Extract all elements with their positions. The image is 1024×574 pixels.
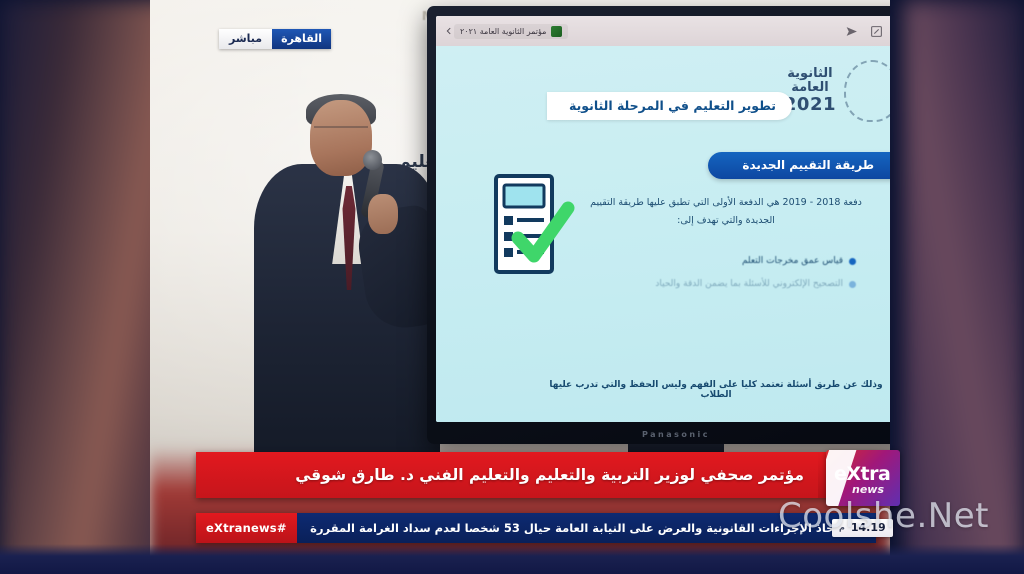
checklist-document-icon (484, 172, 580, 282)
live-status-label: مباشر (219, 29, 272, 49)
bottom-strip (0, 544, 1024, 574)
slide-logo: الثانوية العامة 2021 (784, 60, 890, 122)
bullet-dot-icon (849, 281, 856, 288)
slide-logo-line1: الثانوية (784, 67, 836, 81)
slide-footnote: وذلك عن طريق أسئلة تعتمد كليا على الفهم … (546, 380, 886, 400)
clock-meridiem: م (839, 523, 845, 532)
presentation-display: مؤتمر الثانوية العامة ٢٠٢١ (427, 6, 890, 444)
ticker-text: يه: اتخاذ الإجراءات القانونية والعرض على… (297, 513, 876, 543)
clock-time: 14.19 (851, 521, 886, 534)
slide-paragraph: دفعة 2018 - 2019 هي الدفعة الأولى التي ت… (576, 194, 876, 229)
presentation-slide: الثانوية العامة 2021 تطوير التعليم في ال… (436, 46, 890, 422)
speaker-hand (368, 194, 398, 234)
back-arrow-icon[interactable] (444, 26, 454, 36)
right-blur-band (904, 0, 1024, 574)
bullet-text: قياس عمق مخرجات التعلم (742, 256, 843, 266)
channel-logo: eXtra news (826, 450, 900, 506)
slide-subtitle: طريقة التقييم الجديدة (708, 152, 890, 179)
broadcast-screenshot: MINISTRY OF EDUCATION AND TECHNICAL EDUC… (0, 0, 1024, 574)
wreath-emblem-icon (844, 60, 890, 122)
bullet-text: التصحيح الإلكتروني للأسئلة بما يضمن الدق… (655, 279, 843, 289)
browser-tab-title: مؤتمر الثانوية العامة ٢٠٢١ (460, 27, 546, 36)
send-arrow-icon[interactable] (845, 25, 858, 38)
headline-text: مؤتمر صحفي لوزير التربية والتعليم والتعل… (196, 452, 818, 498)
slide-title: تطوير التعليم في المرحلة الثانوية (547, 92, 792, 120)
live-city-label: القاهرة (272, 29, 331, 49)
microphone-head-icon (363, 150, 382, 170)
lower-third-banner: عاجل مؤتمر صحفي لوزير التربية والتعليم و… (196, 452, 876, 498)
channel-logo-primary: eXtra (834, 463, 890, 485)
browser-toolbar: مؤتمر الثانوية العامة ٢٠٢١ (436, 16, 890, 46)
bullet-dot-icon (849, 258, 856, 265)
display-brand-label: Panasonic (427, 430, 890, 439)
live-banner: القاهرة مباشر (219, 29, 331, 49)
browser-tab[interactable]: مؤتمر الثانوية العامة ٢٠٢١ (454, 24, 568, 39)
channel-logo-secondary: news (852, 483, 884, 496)
speaker-glasses-icon (314, 126, 368, 139)
browser-action-icons (845, 25, 890, 38)
tab-favicon-icon (551, 26, 562, 37)
slide-bullet-list: قياس عمق مخرجات التعلم التصحيح الإلكترون… (586, 256, 856, 302)
display-screen: مؤتمر الثانوية العامة ٢٠٢١ (436, 16, 890, 422)
list-item: التصحيح الإلكتروني للأسئلة بما يضمن الدق… (586, 279, 856, 289)
edit-icon[interactable] (870, 25, 883, 38)
slide-logo-line2: العامة (784, 81, 836, 95)
ticker-hashtag: #eXtranews (196, 513, 297, 543)
on-screen-clock: م 14.19 (832, 519, 893, 537)
list-item: قياس عمق مخرجات التعلم (586, 256, 856, 266)
news-ticker: يه: اتخاذ الإجراءات القانونية والعرض على… (196, 513, 876, 543)
